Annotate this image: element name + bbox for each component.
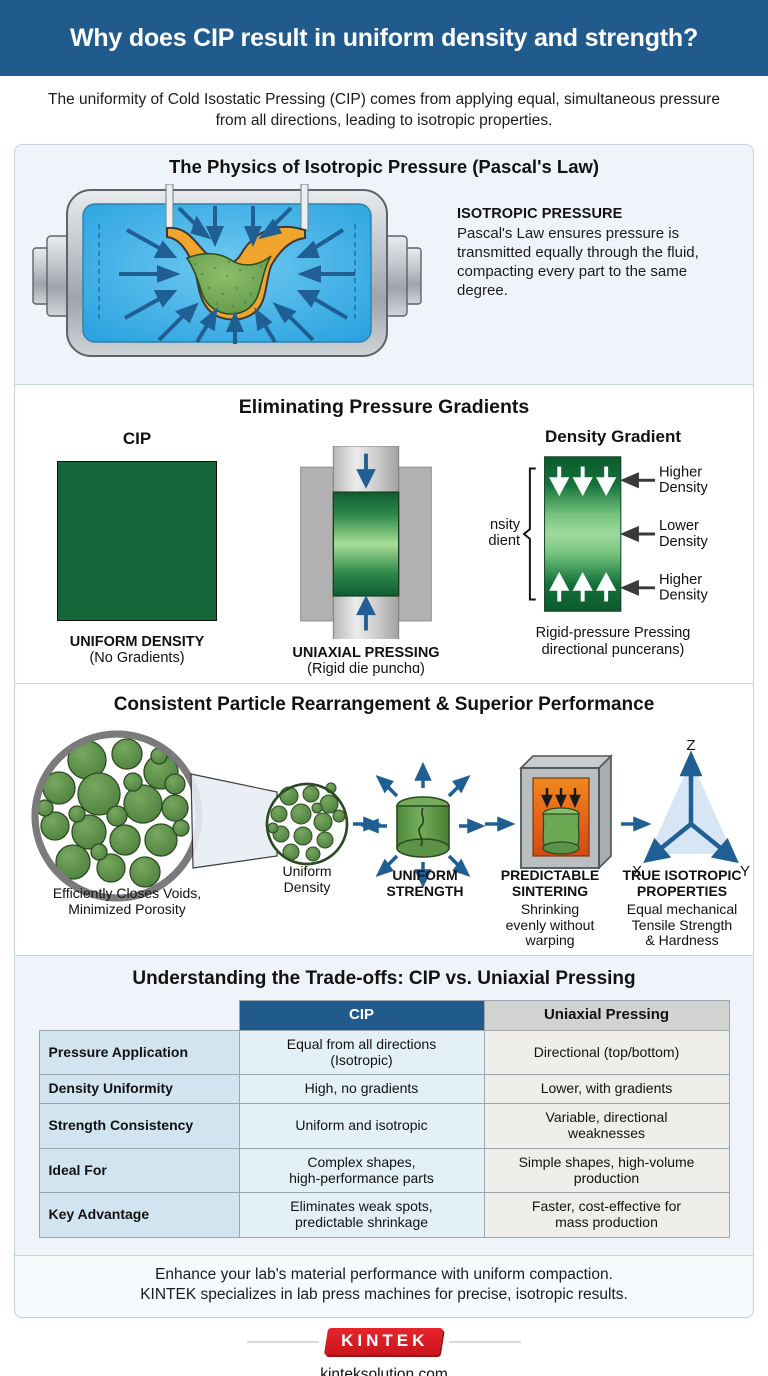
sintering-furnace-icon xyxy=(521,756,611,868)
panel-eliminating-pressure-gradients: Eliminating Pressure Gradients CIP UNIFO… xyxy=(14,385,754,684)
panel-physics-title: The Physics of Isotropic Pressure (Pasca… xyxy=(15,145,753,178)
density-gradient-caption-line1: Rigid-pressure Pressing xyxy=(536,625,691,642)
panel-physics-of-isotropic-pressure: The Physics of Isotropic Pressure (Pasca… xyxy=(14,144,754,385)
table-header-row: CIP Uniaxial Pressing xyxy=(39,1000,729,1030)
cip-caption-strong: UNIFORM DENSITY xyxy=(70,634,205,650)
panel-tradeoffs-table: Understanding the Trade-offs: CIP vs. Un… xyxy=(14,956,754,1256)
svg-text:Density: Density xyxy=(659,480,709,496)
table-header-uniaxial: Uniaxial Pressing xyxy=(484,1000,729,1030)
svg-text:Density: Density xyxy=(659,587,709,603)
panel-particle-rearrangement: Consistent Particle Rearrangement & Supe… xyxy=(14,684,754,956)
label-uniform-strength: UNIFORM STRENGTH xyxy=(365,868,485,899)
label-uniform-density: Uniform Density xyxy=(247,864,367,896)
density-gradient-heading: Density Gradient xyxy=(545,427,681,447)
page-title: Why does CIP result in uniform density a… xyxy=(70,24,698,53)
panel-particles-title: Consistent Particle Rearrangement & Supe… xyxy=(15,684,753,716)
density-gradient-caption-line2: directional puncerans) xyxy=(536,642,691,659)
label-true-isotropic: TRUE ISOTROPIC PROPERTIES xyxy=(613,868,751,899)
kintek-logo: KINTEK xyxy=(324,1328,444,1355)
row-cip-value: Complex shapes, high-performance parts xyxy=(239,1148,484,1193)
row-cip-value: Eliminates weak spots, predictable shrin… xyxy=(239,1193,484,1238)
isotropic-axes-icon: Z X Y xyxy=(632,737,750,880)
pressure-vessel-diagram xyxy=(27,184,447,366)
footer-cta-panel: Enhance your lab's material performance … xyxy=(14,1256,754,1318)
svg-text:Higher: Higher xyxy=(659,572,702,588)
isotropic-pressure-callout: ISOTROPIC PRESSURE Pascal's Law ensures … xyxy=(447,184,743,366)
website-url[interactable]: kinteksolution.com xyxy=(0,1366,768,1376)
table-header-blank xyxy=(39,1000,239,1030)
table-row: Pressure Application Equal from all dire… xyxy=(39,1030,729,1075)
axis-label-z: Z xyxy=(686,737,695,754)
svg-text:Lower: Lower xyxy=(659,518,699,534)
row-label: Strength Consistency xyxy=(39,1104,239,1149)
svg-text:Density: Density xyxy=(659,534,709,550)
label-sintering-sub: Shrinking evenly without warping xyxy=(487,902,613,949)
infographic-page: Why does CIP result in uniform density a… xyxy=(0,0,768,1376)
callout-heading: ISOTROPIC PRESSURE xyxy=(457,206,737,222)
panel-table-title: Understanding the Trade-offs: CIP vs. Un… xyxy=(15,956,753,990)
row-label: Ideal For xyxy=(39,1148,239,1193)
page-header: Why does CIP result in uniform density a… xyxy=(0,0,768,76)
row-uniaxial-value: Faster, cost-effective for mass producti… xyxy=(484,1193,729,1238)
row-uniaxial-value: Directional (top/bottom) xyxy=(484,1030,729,1075)
brand-rule-right xyxy=(449,1341,521,1343)
callout-body: Pascal's Law ensures pressure is transmi… xyxy=(457,224,737,300)
brand-rule-left xyxy=(247,1341,319,1343)
svg-text:Gradient: Gradient xyxy=(489,533,520,549)
row-cip-value: Equal from all directions (Isotropic) xyxy=(239,1030,484,1075)
brand-row: KINTEK xyxy=(0,1328,768,1355)
density-gradient-column: Density Gradient xyxy=(481,423,745,677)
macro-particle-circle xyxy=(35,734,199,898)
row-label: Density Uniformity xyxy=(39,1075,239,1104)
svg-text:Density: Density xyxy=(489,517,521,533)
label-isotropic-sub: Equal mechanical Tensile Strength & Hard… xyxy=(613,902,751,949)
panel-gradients-title: Eliminating Pressure Gradients xyxy=(15,385,753,419)
comparison-table: CIP Uniaxial Pressing Pressure Applicati… xyxy=(39,1000,730,1238)
label-closes-voids: Efficiently Closes Voids, Minimized Poro… xyxy=(27,886,227,918)
micro-particle-circle xyxy=(267,783,347,864)
row-cip-value: Uniform and isotropic xyxy=(239,1104,484,1149)
kintek-logo-text: KINTEK xyxy=(341,1331,428,1351)
label-predictable-sintering: PREDICTABLE SINTERING xyxy=(487,868,613,899)
cip-uniform-block xyxy=(57,461,217,621)
uniaxial-caption-sub: (Rigid die punchɑ) xyxy=(307,661,425,677)
row-uniaxial-value: Lower, with gradients xyxy=(484,1075,729,1104)
table-row: Key Advantage Eliminates weak spots, pre… xyxy=(39,1193,729,1238)
table-header-cip: CIP xyxy=(239,1000,484,1030)
cip-uniform-density-column: CIP UNIFORM DENSITY (No Gradients) xyxy=(23,423,251,677)
cta-line-2: KINTEK specializes in lab press machines… xyxy=(35,1285,733,1305)
table-row: Strength Consistency Uniform and isotrop… xyxy=(39,1104,729,1149)
density-gradient-diagram: Density Gradient Higher Density Lower De… xyxy=(489,447,737,623)
row-cip-value: High, no gradients xyxy=(239,1075,484,1104)
row-label: Pressure Application xyxy=(39,1030,239,1075)
uniaxial-die-diagram xyxy=(276,446,456,638)
cip-column-heading: CIP xyxy=(123,429,151,449)
table-row: Density Uniformity High, no gradients Lo… xyxy=(39,1075,729,1104)
cta-line-1: Enhance your lab's material performance … xyxy=(35,1265,733,1285)
svg-text:Higher: Higher xyxy=(659,464,702,480)
cip-caption-sub: (No Gradients) xyxy=(89,650,184,666)
uniaxial-caption-strong: UNIAXIAL PRESSING xyxy=(292,645,439,661)
row-label: Key Advantage xyxy=(39,1193,239,1238)
row-uniaxial-value: Simple shapes, high-volume production xyxy=(484,1148,729,1193)
uniaxial-pressing-column: UNIAXIAL PRESSING (Rigid die punchɑ) xyxy=(251,423,481,677)
row-uniaxial-value: Variable, directional weaknesses xyxy=(484,1104,729,1149)
subtitle-text: The uniformity of Cold Isostatic Pressin… xyxy=(0,76,768,144)
table-row: Ideal For Complex shapes, high-performan… xyxy=(39,1148,729,1193)
